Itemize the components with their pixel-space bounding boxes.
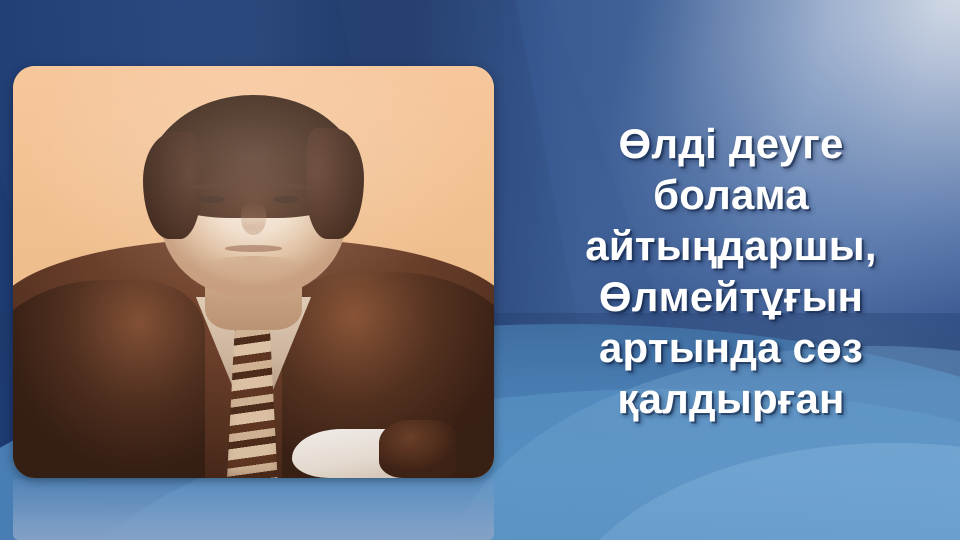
quote-line-6: қалдырған <box>505 373 957 424</box>
portrait-illustration <box>13 66 494 478</box>
presentation-slide: Өлді деуге болама айтыңдаршы, Өлмейтұғын… <box>0 0 960 540</box>
portrait-photo-frame <box>13 66 494 478</box>
quote-line-1: Өлді деуге <box>505 118 957 169</box>
photo-reflection <box>13 479 494 540</box>
portrait-photo[interactable] <box>13 66 494 478</box>
photo-reflection-fade <box>13 479 494 540</box>
quote-line-5: артында сөз <box>505 322 957 373</box>
quote-line-2: болама <box>505 169 957 220</box>
quote-text-block: Өлді деуге болама айтыңдаршы, Өлмейтұғын… <box>505 118 957 424</box>
portrait-sepia-veil <box>13 66 494 478</box>
quote-line-3: айтыңдаршы, <box>505 220 957 271</box>
quote-line-4: Өлмейтұғын <box>505 271 957 322</box>
